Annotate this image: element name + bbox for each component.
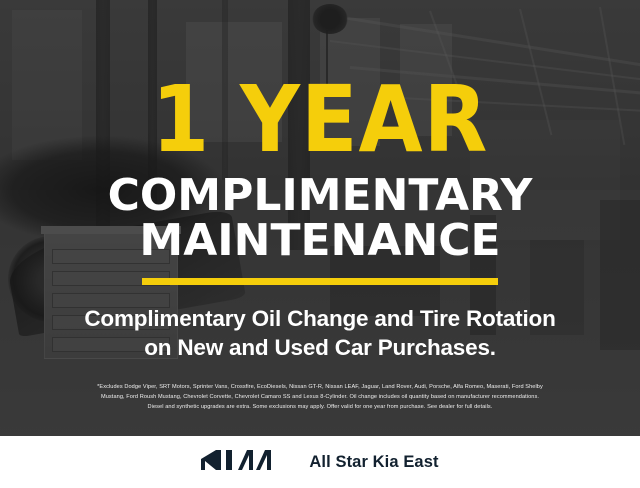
- ad-content: 1 YEAR COMPLIMENTARY MAINTENANCE Complim…: [0, 0, 640, 488]
- disclaimer-line-2: Mustang, Ford Roush Mustang, Chevrolet C…: [13, 392, 627, 402]
- yellow-divider-bar: [142, 278, 498, 285]
- offer-description: Complimentary Oil Change and Tire Rotati…: [84, 305, 555, 363]
- headline-secondary-line-1: COMPLIMENTARY: [108, 173, 533, 219]
- footer-bar: All Star Kia East: [0, 436, 640, 488]
- disclaimer-line-1: *Excludes Dodge Viper, SRT Motors, Sprin…: [13, 382, 627, 392]
- disclaimer-text: *Excludes Dodge Viper, SRT Motors, Sprin…: [13, 382, 627, 413]
- offer-line-2: on New and Used Car Purchases.: [84, 334, 555, 363]
- advertisement-banner: 1 YEAR COMPLIMENTARY MAINTENANCE Complim…: [0, 0, 640, 488]
- dealer-name: All Star Kia East: [309, 453, 438, 472]
- offer-line-1: Complimentary Oil Change and Tire Rotati…: [84, 305, 555, 334]
- headline-primary: 1 YEAR: [152, 78, 489, 163]
- kia-logo-icon: [201, 448, 287, 477]
- headline-secondary: COMPLIMENTARY MAINTENANCE: [108, 173, 533, 265]
- disclaimer-line-3: Diesel and synthetic upgrades are extra.…: [13, 402, 627, 412]
- headline-secondary-line-2: MAINTENANCE: [108, 218, 533, 264]
